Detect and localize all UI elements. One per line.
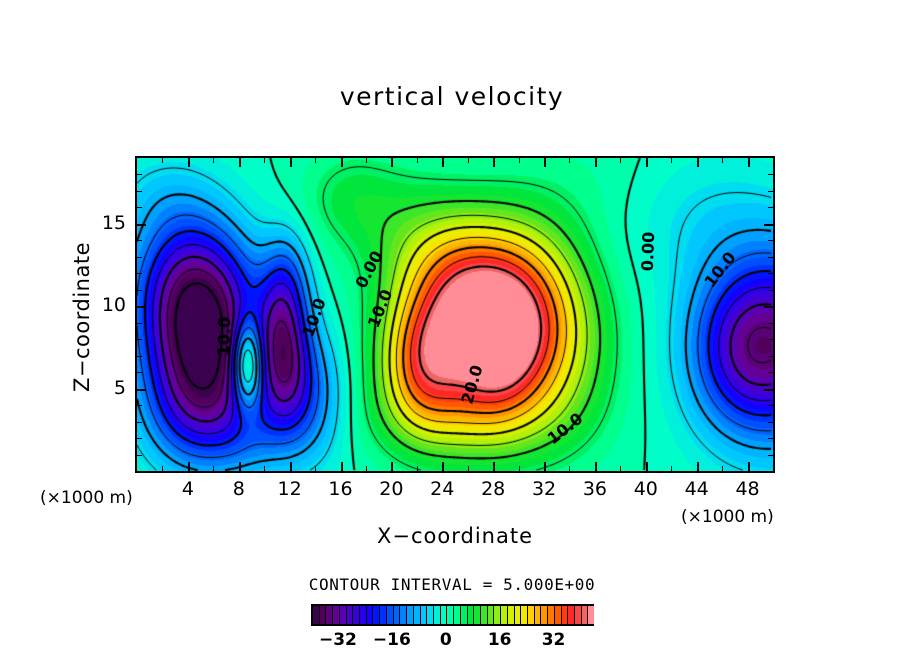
x-major-tick [442, 462, 444, 471]
x-major-tick [239, 462, 241, 471]
colorbar-band [346, 604, 353, 626]
y-minor-tick-right [768, 257, 773, 258]
x-major-tick [290, 462, 292, 471]
x-minor-tick-top [162, 158, 163, 163]
y-tick-label-10: 10 [96, 294, 126, 316]
y-minor-tick-right [768, 422, 773, 423]
colorbar[interactable] [311, 604, 594, 626]
colorbar-band [561, 604, 568, 626]
x-minor-tick [417, 466, 418, 471]
x-major-tick [646, 462, 648, 471]
x-minor-tick [366, 466, 367, 471]
colorbar-band [534, 604, 541, 626]
colorbar-band [446, 604, 453, 626]
colorbar-band [319, 604, 326, 626]
x-minor-tick [671, 466, 672, 471]
x-tick-label-48: 48 [728, 478, 768, 500]
colorbar-band [440, 604, 447, 626]
x-major-tick-top [646, 158, 648, 167]
y-minor-tick [137, 257, 142, 258]
colorbar-band [487, 604, 494, 626]
colorbar-band [574, 604, 581, 626]
y-axis-units-label: (×1000 m) [40, 488, 133, 508]
y-minor-tick-right [768, 323, 773, 324]
colorbar-band [386, 604, 393, 626]
x-tick-label-32: 32 [524, 478, 564, 500]
y-minor-tick-right [768, 191, 773, 192]
colorbar-band [467, 604, 474, 626]
y-minor-tick-right [768, 339, 773, 340]
y-minor-tick-right [768, 240, 773, 241]
y-minor-tick [137, 174, 142, 175]
x-minor-tick-top [213, 158, 214, 163]
x-major-tick [493, 462, 495, 471]
y-minor-tick [137, 207, 142, 208]
x-minor-tick [468, 466, 469, 471]
y-minor-tick [137, 240, 142, 241]
x-major-tick-top [493, 158, 495, 167]
x-major-tick-top [595, 158, 597, 167]
x-axis-title: X−coordinate [255, 524, 655, 548]
y-minor-tick [137, 438, 142, 439]
colorbar-band [567, 604, 574, 626]
y-minor-tick [137, 191, 142, 192]
colorbar-band [547, 604, 554, 626]
colorbar-band [325, 604, 332, 626]
x-minor-tick [722, 466, 723, 471]
colorbar-band [473, 604, 480, 626]
colorbar-band [527, 604, 534, 626]
x-minor-tick-top [468, 158, 469, 163]
colorbar-band [554, 604, 561, 626]
contour-label: 0.00 [638, 229, 659, 274]
y-minor-tick [137, 356, 142, 357]
x-major-tick-top [442, 158, 444, 167]
x-major-tick-top [188, 158, 190, 167]
x-tick-label-4: 4 [168, 478, 208, 500]
contour-label: 10.0 [214, 314, 235, 359]
colorbar-tick-label: −16 [369, 630, 415, 650]
x-minor-tick [569, 466, 570, 471]
colorbar-band [520, 604, 527, 626]
y-major-tick [137, 389, 146, 391]
x-tick-label-16: 16 [321, 478, 361, 500]
x-minor-tick-top [671, 158, 672, 163]
colorbar-band [493, 604, 500, 626]
x-tick-label-44: 44 [677, 478, 717, 500]
colorbar-band [587, 604, 594, 626]
x-tick-label-12: 12 [270, 478, 310, 500]
x-major-tick-top [697, 158, 699, 167]
x-major-tick-top [544, 158, 546, 167]
colorbar-band [379, 604, 386, 626]
colorbar-band [366, 604, 373, 626]
x-tick-label-28: 28 [473, 478, 513, 500]
x-major-tick-top [391, 158, 393, 167]
y-minor-tick-right [768, 290, 773, 291]
colorbar-band [540, 604, 547, 626]
x-major-tick-top [290, 158, 292, 167]
colorbar-band [453, 604, 460, 626]
colorbar-band [433, 604, 440, 626]
x-minor-tick-top [620, 158, 621, 163]
colorbar-band [581, 604, 588, 626]
x-minor-tick-top [264, 158, 265, 163]
y-axis-title: Z−coordinate [70, 217, 94, 417]
x-tick-label-36: 36 [575, 478, 615, 500]
x-minor-tick [315, 466, 316, 471]
y-minor-tick [137, 455, 142, 456]
colorbar-band [406, 604, 413, 626]
contour-interval-caption: CONTOUR INTERVAL = 5.000E+00 [0, 575, 904, 594]
y-minor-tick-right [768, 273, 773, 274]
colorbar-band [393, 604, 400, 626]
y-minor-tick-right [768, 207, 773, 208]
x-minor-tick-top [569, 158, 570, 163]
x-major-tick-top [341, 158, 343, 167]
colorbar-band [507, 604, 514, 626]
x-minor-tick [519, 466, 520, 471]
x-major-tick [391, 462, 393, 471]
x-minor-tick [162, 466, 163, 471]
x-minor-tick-top [417, 158, 418, 163]
contour-plot-area: 0.000.0010.010.010.010.010.020.0 [135, 156, 775, 473]
colorbar-band [460, 604, 467, 626]
colorbar-band [372, 604, 379, 626]
x-minor-tick-top [519, 158, 520, 163]
x-major-tick-top [239, 158, 241, 167]
x-minor-tick [213, 466, 214, 471]
page-title: vertical velocity [0, 82, 904, 111]
y-minor-tick [137, 372, 142, 373]
x-tick-label-40: 40 [626, 478, 666, 500]
y-minor-tick [137, 290, 142, 291]
y-major-tick-right [764, 306, 773, 308]
x-minor-tick [620, 466, 621, 471]
x-tick-label-24: 24 [422, 478, 462, 500]
colorbar-band [332, 604, 339, 626]
y-minor-tick [137, 339, 142, 340]
x-major-tick [697, 462, 699, 471]
y-major-tick-right [764, 224, 773, 226]
x-axis-units-label: (×1000 m) [681, 507, 774, 527]
x-major-tick [748, 462, 750, 471]
contour-plot-page: vertical velocity 0.000.0010.010.010.010… [0, 0, 904, 654]
colorbar-tick-label: 0 [423, 630, 469, 650]
colorbar-tick-label: 32 [531, 630, 577, 650]
x-minor-tick [264, 466, 265, 471]
y-minor-tick-right [768, 438, 773, 439]
x-major-tick-top [748, 158, 750, 167]
colorbar-band [426, 604, 433, 626]
x-major-tick [595, 462, 597, 471]
y-major-tick [137, 224, 146, 226]
colorbar-band [352, 604, 359, 626]
colorbar-band [359, 604, 366, 626]
x-major-tick [188, 462, 190, 471]
colorbar-tick-label: −32 [315, 630, 361, 650]
y-minor-tick-right [768, 356, 773, 357]
colorbar-band [399, 604, 406, 626]
x-major-tick [341, 462, 343, 471]
y-major-tick-right [764, 389, 773, 391]
y-minor-tick-right [768, 174, 773, 175]
x-minor-tick-top [315, 158, 316, 163]
y-tick-label-5: 5 [96, 377, 126, 399]
y-minor-tick [137, 405, 142, 406]
colorbar-band [480, 604, 487, 626]
y-minor-tick [137, 273, 142, 274]
x-minor-tick-top [722, 158, 723, 163]
y-major-tick [137, 306, 146, 308]
x-tick-label-8: 8 [219, 478, 259, 500]
colorbar-band [339, 604, 346, 626]
y-minor-tick-right [768, 405, 773, 406]
colorbar-band [413, 604, 420, 626]
colorbar-band [420, 604, 427, 626]
y-tick-label-15: 15 [96, 212, 126, 234]
colorbar-swatches [311, 604, 594, 626]
x-major-tick [544, 462, 546, 471]
y-minor-tick [137, 323, 142, 324]
y-minor-tick-right [768, 455, 773, 456]
colorbar-band [500, 604, 507, 626]
y-minor-tick [137, 422, 142, 423]
colorbar-band [311, 604, 319, 626]
colorbar-tick-label: 16 [477, 630, 523, 650]
x-minor-tick-top [366, 158, 367, 163]
colorbar-band [514, 604, 521, 626]
x-tick-label-20: 20 [371, 478, 411, 500]
y-minor-tick-right [768, 372, 773, 373]
